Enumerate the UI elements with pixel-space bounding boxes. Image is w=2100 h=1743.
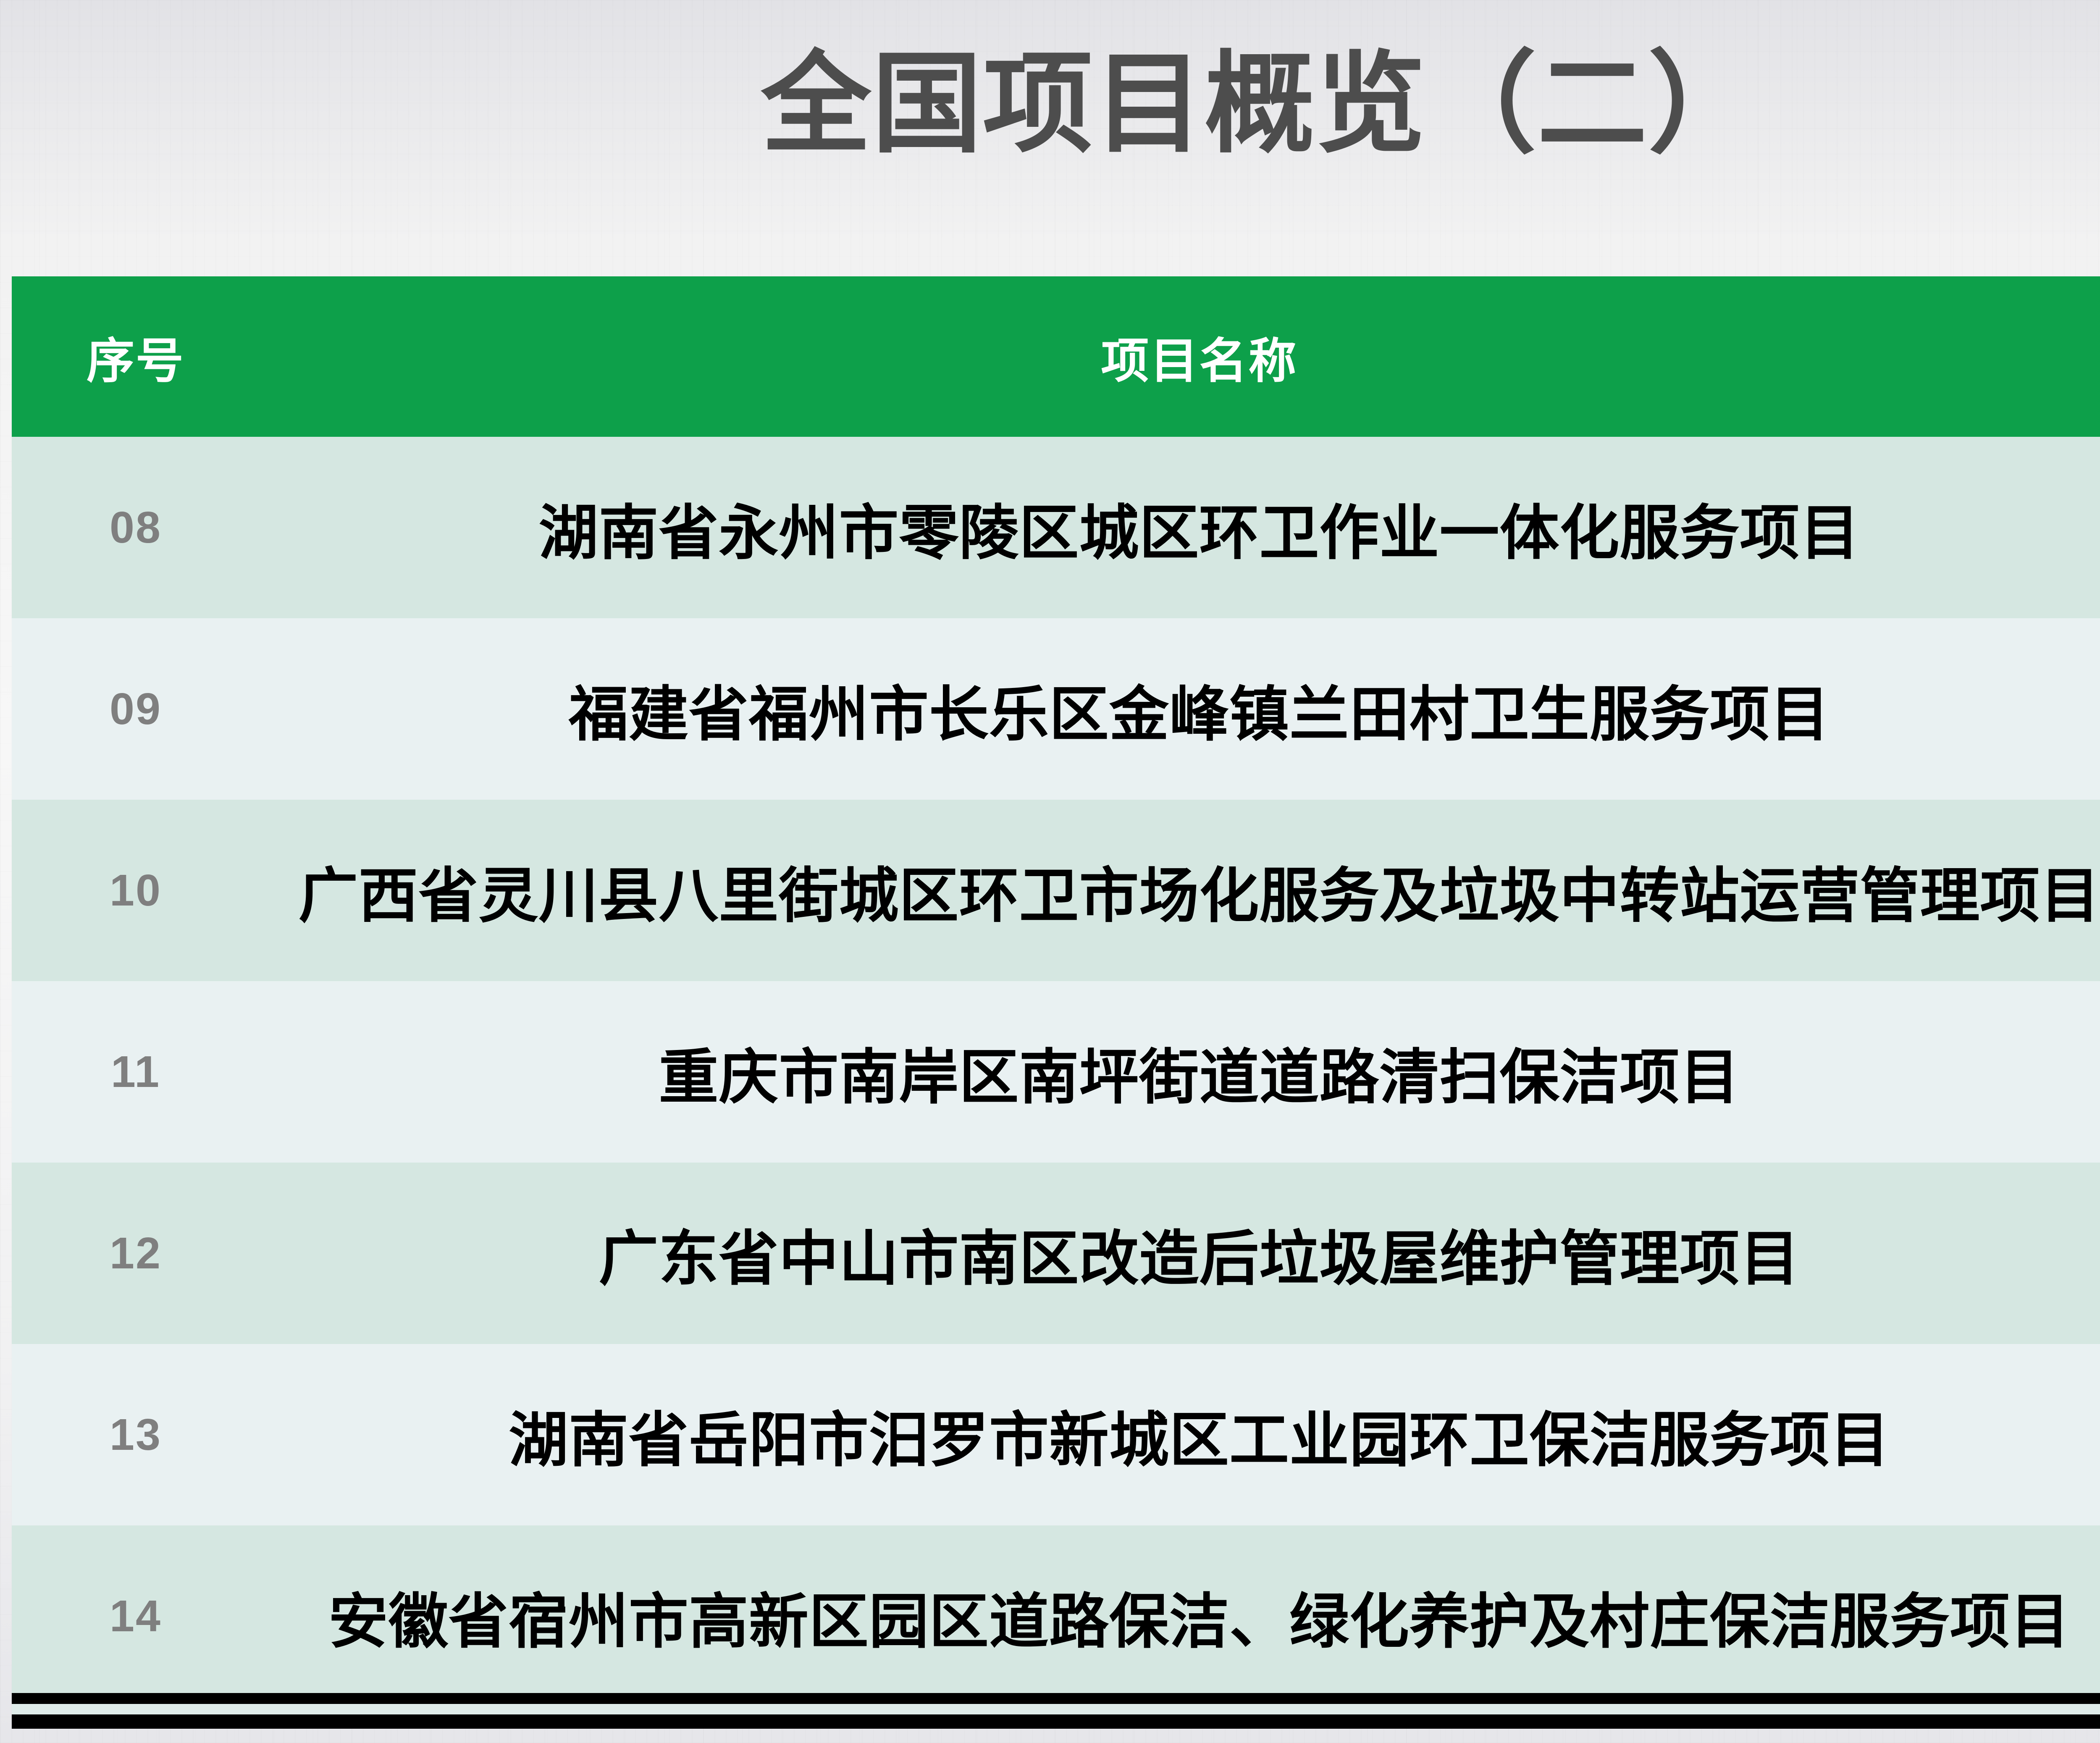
row-project-name: 广东省中山市南区改造后垃圾屋维护管理项目 — [260, 1163, 2100, 1344]
row-index: 14 — [12, 1525, 260, 1707]
row-project-name: 安徽省宿州市高新区园区道路保洁、绿化养护及村庄保洁服务项目 — [260, 1525, 2100, 1707]
column-header-project-name[interactable]: 项目名称 — [260, 276, 2100, 437]
row-index: 12 — [12, 1163, 260, 1344]
table-row[interactable]: 13 湖南省岳阳市汨罗市新城区工业园环卫保洁服务项目 300万 — [12, 1344, 2100, 1525]
table-row[interactable]: 10 广西省灵川县八里街城区环卫市场化服务及垃圾中转站运营管理项目 1010万 — [12, 800, 2100, 981]
row-index: 08 — [12, 437, 260, 618]
table-header-row: 序号 项目名称 合同金额 — [12, 276, 2100, 437]
table-row[interactable]: 09 福建省福州市长乐区金峰镇兰田村卫生服务项目 1211万 — [12, 618, 2100, 800]
slide-canvas: 全国项目概览（二） 序号 项目名称 合同金额 08 湖南省永州市零陵区城区环卫作… — [0, 0, 2100, 1743]
row-project-name: 广西省灵川县八里街城区环卫市场化服务及垃圾中转站运营管理项目 — [260, 800, 2100, 981]
page-title: 全国项目概览（二） — [761, 46, 1759, 162]
projects-table-container: 序号 项目名称 合同金额 08 湖南省永州市零陵区城区环卫作业一体化服务项目 6… — [12, 276, 2100, 1707]
page-title-container: 全国项目概览（二） — [0, 46, 2100, 162]
table-row[interactable]: 08 湖南省永州市零陵区城区环卫作业一体化服务项目 6329万 — [12, 437, 2100, 618]
clipped-row-gap — [12, 1704, 2100, 1714]
table-body: 08 湖南省永州市零陵区城区环卫作业一体化服务项目 6329万 09 福建省福州… — [12, 437, 2100, 1707]
row-index: 11 — [12, 981, 260, 1163]
row-project-name: 湖南省永州市零陵区城区环卫作业一体化服务项目 — [260, 437, 2100, 618]
row-index: 10 — [12, 800, 260, 981]
clipped-row-divider-top — [12, 1693, 2100, 1704]
table-row[interactable]: 14 安徽省宿州市高新区园区道路保洁、绿化养护及村庄保洁服务项目 2100万 — [12, 1525, 2100, 1707]
row-project-name: 福建省福州市长乐区金峰镇兰田村卫生服务项目 — [260, 618, 2100, 800]
table-row[interactable]: 12 广东省中山市南区改造后垃圾屋维护管理项目 240万 — [12, 1163, 2100, 1344]
clipped-row-divider-bottom — [12, 1714, 2100, 1729]
table-row[interactable]: 11 重庆市南岸区南坪街道道路清扫保洁项目 390万 — [12, 981, 2100, 1163]
row-index: 09 — [12, 618, 260, 800]
column-header-index[interactable]: 序号 — [12, 276, 260, 437]
row-index: 13 — [12, 1344, 260, 1525]
row-project-name: 重庆市南岸区南坪街道道路清扫保洁项目 — [260, 981, 2100, 1163]
projects-table: 序号 项目名称 合同金额 08 湖南省永州市零陵区城区环卫作业一体化服务项目 6… — [12, 276, 2100, 1707]
row-project-name: 湖南省岳阳市汨罗市新城区工业园环卫保洁服务项目 — [260, 1344, 2100, 1525]
table-header: 序号 项目名称 合同金额 — [12, 276, 2100, 437]
